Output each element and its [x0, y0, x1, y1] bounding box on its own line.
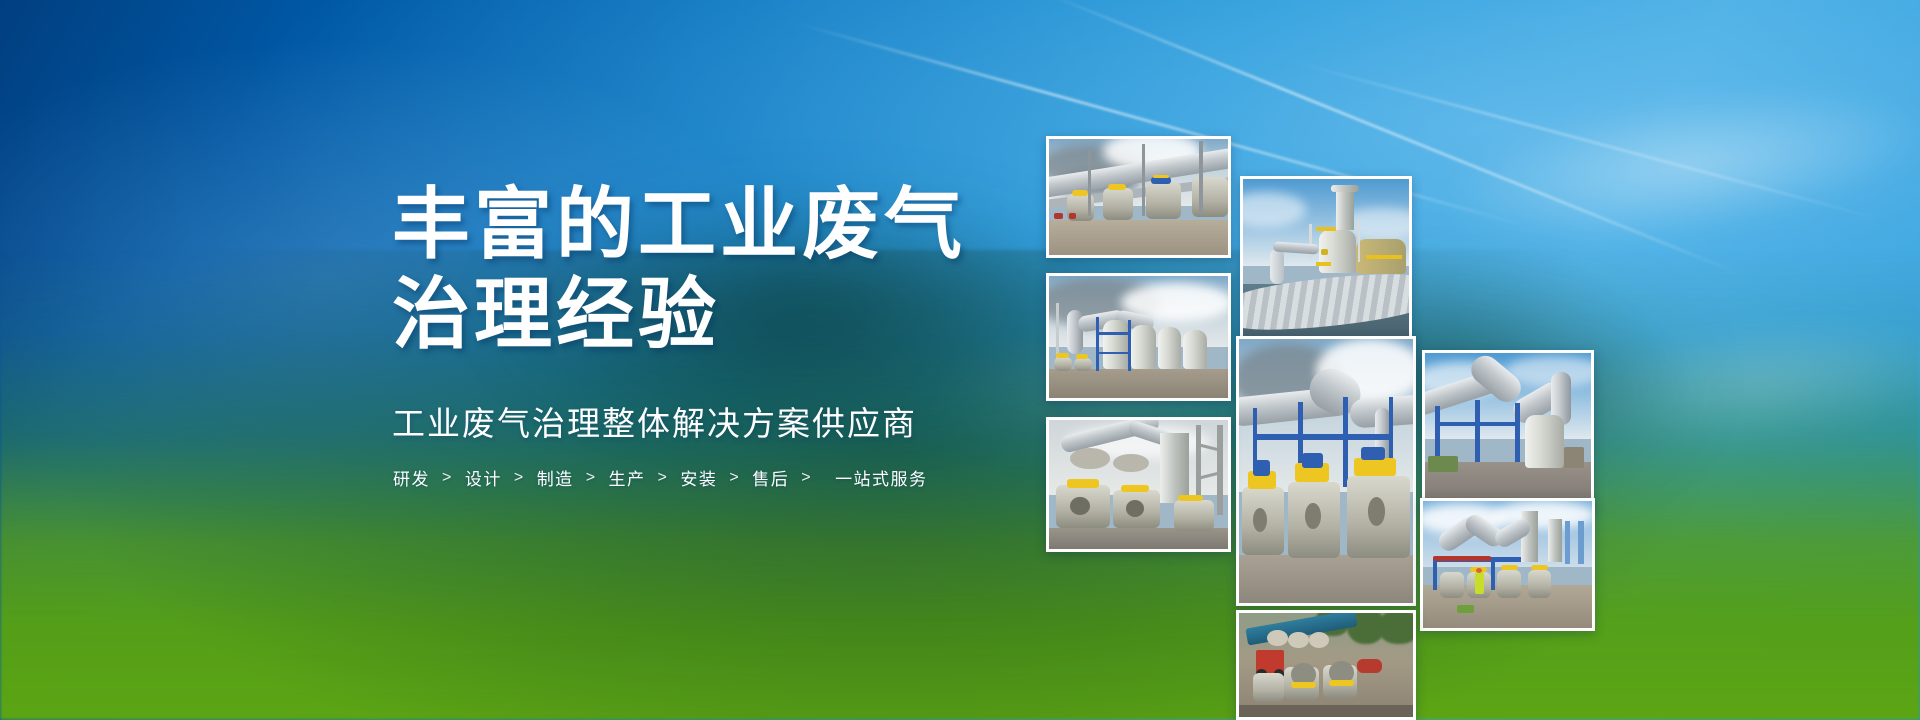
- banner-headline: 丰富的工业废气 治理经验: [392, 180, 1112, 359]
- process-step-4: 生产: [608, 465, 647, 490]
- process-separator-4: >: [647, 469, 680, 487]
- headline-line-1: 丰富的工业废气: [392, 180, 966, 268]
- gallery-photo-5[interactable]: [1422, 350, 1594, 512]
- gallery-photo-2[interactable]: [1240, 176, 1412, 341]
- gallery-photo-3[interactable]: [1046, 273, 1231, 401]
- process-step-2: 设计: [464, 465, 503, 490]
- gallery-photo-6[interactable]: [1046, 417, 1231, 552]
- gallery-photo-8[interactable]: [1236, 610, 1416, 720]
- process-step-3: 制造: [536, 465, 575, 490]
- process-step-5: 安装: [679, 465, 718, 490]
- gallery-photo-7[interactable]: [1420, 498, 1595, 631]
- process-separator-6: >: [790, 469, 823, 487]
- hero-banner: 丰富的工业废气 治理经验 工业废气治理整体解决方案供应商 研发 > 设计 > 制…: [0, 0, 1920, 720]
- process-separator-3: >: [575, 469, 608, 487]
- process-steps: 研发 > 设计 > 制造 > 生产 > 安装 > 售后 > 一站式服务: [392, 465, 1112, 490]
- process-separator-2: >: [503, 469, 536, 487]
- process-step-1: 研发: [392, 465, 431, 490]
- gallery-photo-4[interactable]: [1236, 336, 1416, 606]
- headline-line-2: 治理经验: [392, 270, 1112, 360]
- banner-subtitle: 工业废气治理整体解决方案供应商: [392, 397, 1112, 445]
- gallery-photo-1[interactable]: [1046, 136, 1231, 258]
- process-step-final: 一站式服务: [834, 465, 929, 490]
- banner-copy: 丰富的工业废气 治理经验 工业废气治理整体解决方案供应商 研发 > 设计 > 制…: [392, 180, 1112, 490]
- process-separator-5: >: [718, 469, 751, 487]
- process-step-6: 售后: [751, 465, 790, 490]
- process-separator-1: >: [431, 469, 464, 487]
